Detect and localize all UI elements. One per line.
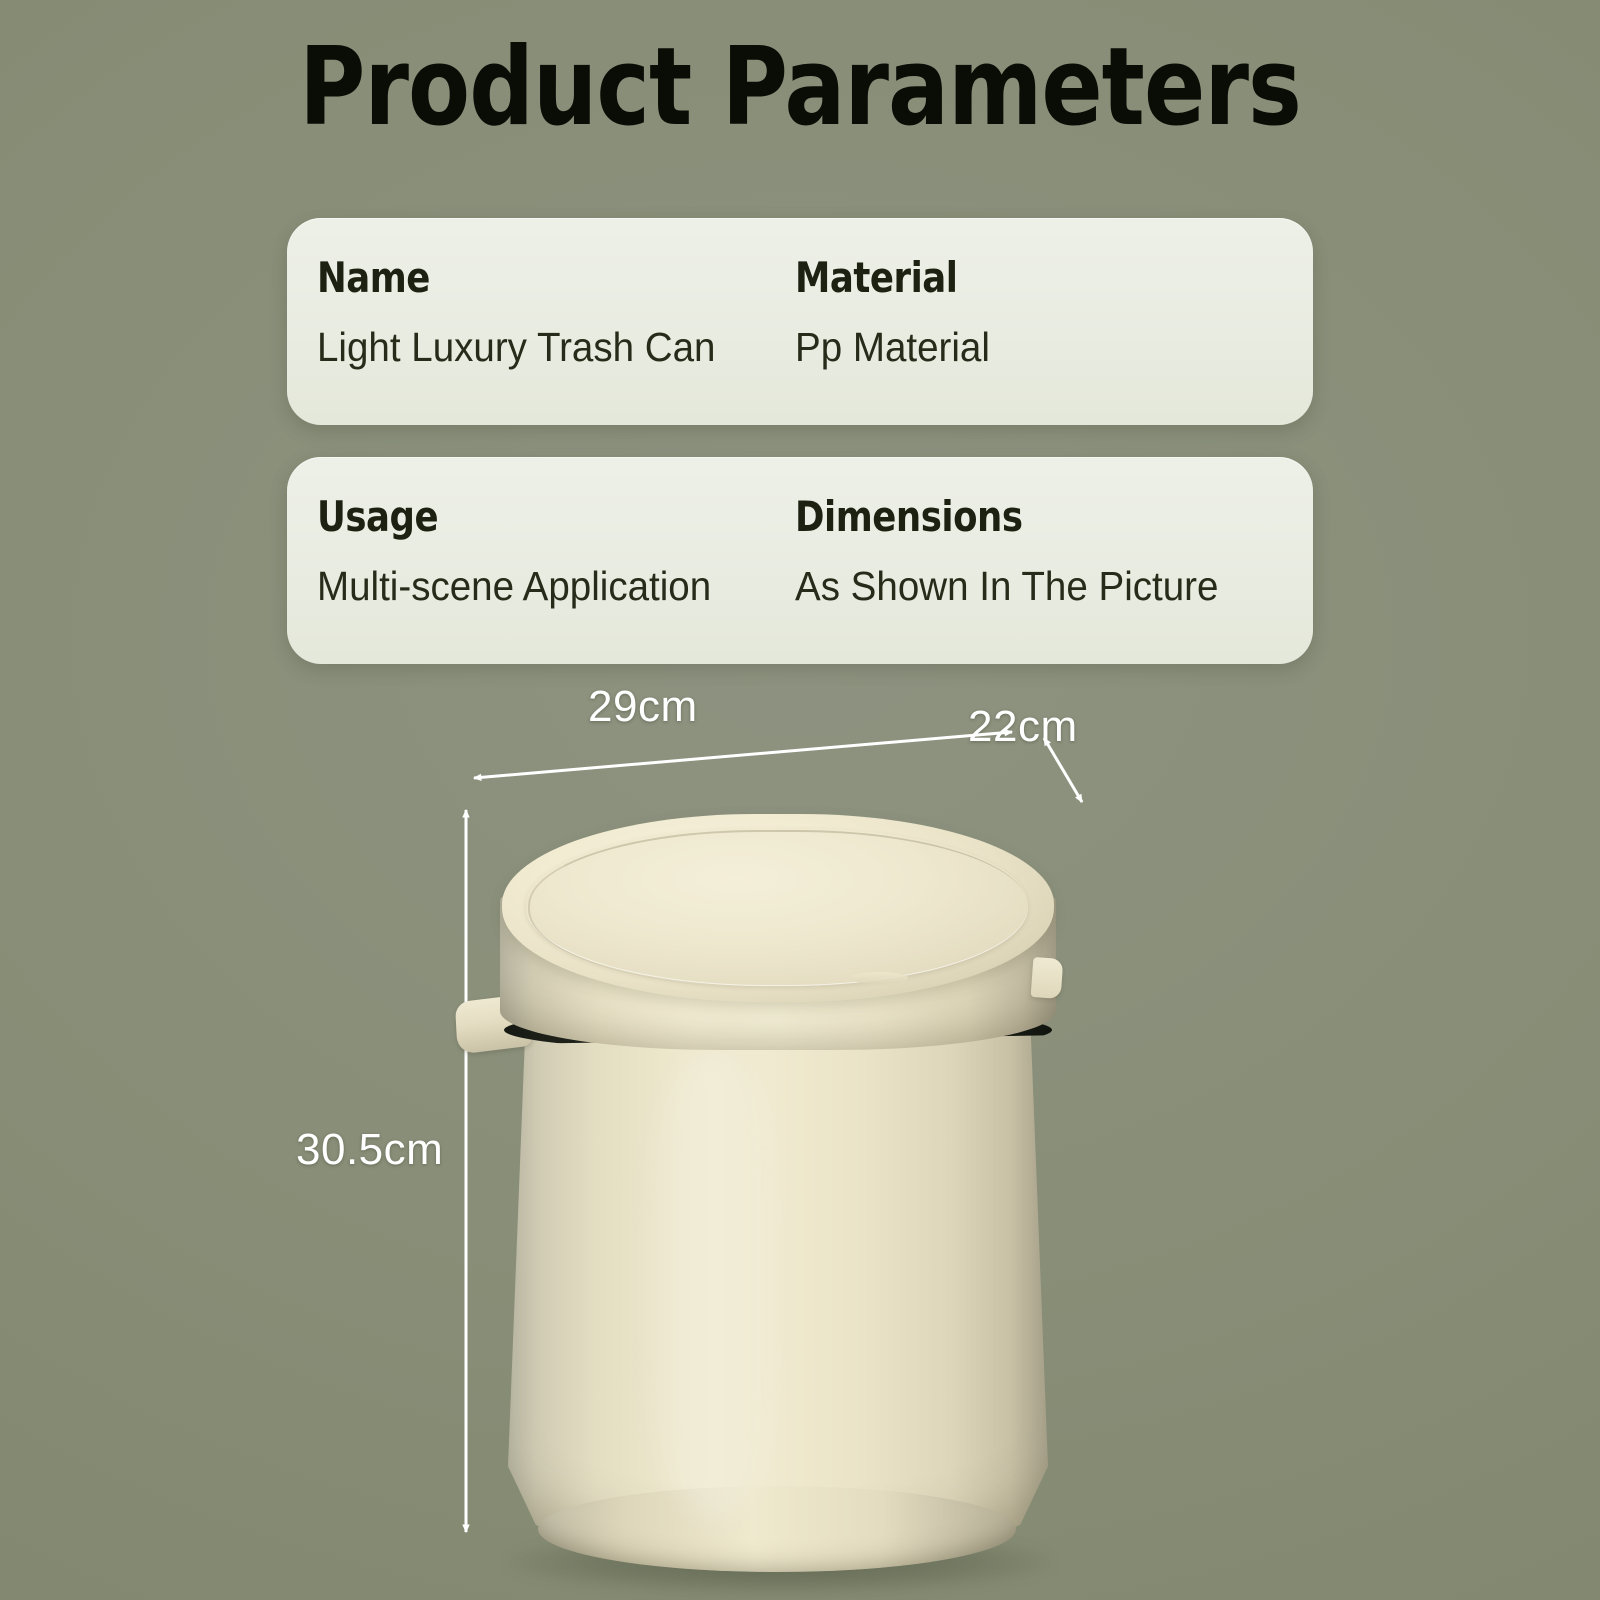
spec-value-dimensions: As Shown In The Picture xyxy=(795,565,1265,608)
spec-card-1: Name Light Luxury Trash Can Material Pp … xyxy=(287,218,1313,425)
spec-value-usage: Multi-scene Application xyxy=(317,565,759,608)
spec-cell-dimensions: Dimensions As Shown In The Picture xyxy=(795,495,1295,608)
spec-cell-name: Name Light Luxury Trash Can xyxy=(317,256,787,369)
trash-can-lid-notch xyxy=(850,972,908,984)
spec-label-dimensions: Dimensions xyxy=(795,495,1265,539)
spec-card-2: Usage Multi-scene Application Dimensions… xyxy=(287,457,1313,664)
spec-cell-usage: Usage Multi-scene Application xyxy=(317,495,787,608)
dimension-label-depth: 22cm xyxy=(968,702,1078,752)
trash-can-highlight xyxy=(630,1050,800,1520)
dimension-arrow-width xyxy=(474,732,1012,778)
trash-can-side-tab-right xyxy=(1031,957,1064,999)
spec-label-usage: Usage xyxy=(317,495,759,539)
dimension-label-width: 29cm xyxy=(588,682,698,732)
spec-cell-material: Material Pp Material xyxy=(795,256,1295,369)
product-scene: 29cm 22cm 30.5cm xyxy=(0,660,1600,1600)
spec-value-material: Pp Material xyxy=(795,326,1265,369)
dimension-label-height: 30.5cm xyxy=(296,1125,443,1175)
product-parameters-page: Product Parameters Name Light Luxury Tra… xyxy=(0,0,1600,1600)
spec-label-material: Material xyxy=(795,256,1265,300)
page-title: Product Parameters xyxy=(56,34,1544,142)
trash-can-illustration xyxy=(480,780,1080,1580)
spec-label-name: Name xyxy=(317,256,759,300)
trash-can-base xyxy=(538,1486,1016,1572)
spec-value-name: Light Luxury Trash Can xyxy=(317,326,759,369)
trash-can-lid-seam xyxy=(528,830,1028,988)
